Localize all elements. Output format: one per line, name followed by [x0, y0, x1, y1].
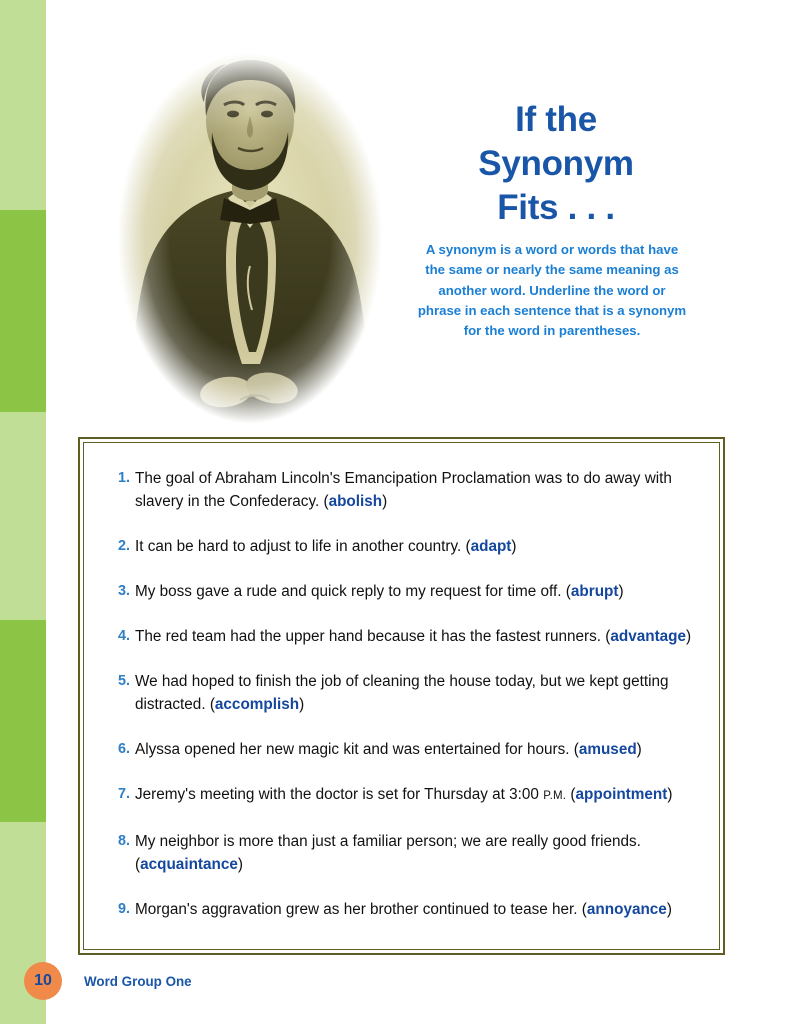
target-word: adapt — [471, 538, 512, 555]
item-number: 8. — [108, 830, 135, 853]
page-title: If the Synonym Fits . . . — [416, 98, 696, 230]
exercise-item-list: 1.The goal of Abraham Lincoln's Emancipa… — [84, 443, 719, 949]
exercise-item: 5.We had hoped to finish the job of clea… — [108, 670, 697, 716]
exercise-item: 6.Alyssa opened her new magic kit and wa… — [108, 738, 697, 761]
item-sentence: Alyssa opened her new magic kit and was … — [135, 738, 697, 761]
item-number: 6. — [108, 738, 135, 761]
title-line-3: Fits . . . — [416, 186, 696, 230]
exercise-box: 1.The goal of Abraham Lincoln's Emancipa… — [78, 437, 725, 955]
page-footer: 10 Word Group One — [24, 962, 192, 1000]
exercise-item: 3.My boss gave a rude and quick reply to… — [108, 580, 697, 603]
target-word: abolish — [329, 493, 383, 510]
decorative-sidebar — [0, 0, 46, 1024]
item-number: 7. — [108, 783, 135, 806]
target-word: annoyance — [587, 901, 667, 918]
target-word: accomplish — [215, 696, 299, 713]
exercise-item: 7.Jeremy's meeting with the doctor is se… — [108, 783, 697, 808]
exercise-item: 4.The red team had the upper hand becaus… — [108, 625, 697, 648]
target-word: amused — [579, 741, 637, 758]
exercise-item: 9.Morgan's aggravation grew as her broth… — [108, 898, 697, 921]
band-4-dark — [0, 620, 46, 822]
exercise-inner-border: 1.The goal of Abraham Lincoln's Emancipa… — [83, 442, 720, 950]
item-number: 1. — [108, 467, 135, 490]
target-word: advantage — [610, 628, 686, 645]
time-meridiem: P.M. — [543, 790, 566, 802]
exercise-item: 8.My neighbor is more than just a famili… — [108, 830, 697, 876]
title-line-2: Synonym — [416, 142, 696, 186]
item-sentence: The goal of Abraham Lincoln's Emancipati… — [135, 467, 697, 513]
target-word: appointment — [576, 786, 668, 803]
item-number: 2. — [108, 535, 135, 558]
portrait-illustration — [100, 28, 400, 448]
item-number: 9. — [108, 898, 135, 921]
item-number: 4. — [108, 625, 135, 648]
exercise-item: 1.The goal of Abraham Lincoln's Emancipa… — [108, 467, 697, 513]
band-1-light — [0, 0, 46, 210]
page-number-badge: 10 — [24, 962, 62, 1000]
target-word: acquaintance — [140, 856, 238, 873]
target-word: abrupt — [571, 583, 619, 600]
exercise-item: 2.It can be hard to adjust to life in an… — [108, 535, 697, 558]
footer-section-label: Word Group One — [84, 974, 192, 989]
band-3-light — [0, 412, 46, 620]
item-sentence: My boss gave a rude and quick reply to m… — [135, 580, 697, 603]
instructions-keyword: synonym — [439, 242, 497, 257]
item-sentence: My neighbor is more than just a familiar… — [135, 830, 697, 876]
instructions-text: A synonym is a word or words that have t… — [416, 240, 688, 341]
item-number: 5. — [108, 670, 135, 693]
title-line-1: If the — [416, 98, 696, 142]
band-2-dark — [0, 210, 46, 412]
item-sentence: Morgan's aggravation grew as her brother… — [135, 898, 697, 921]
lincoln-portrait — [100, 28, 400, 448]
item-sentence: The red team had the upper hand because … — [135, 625, 697, 648]
item-sentence: It can be hard to adjust to life in anot… — [135, 535, 697, 558]
portrait-oval-vignette — [100, 28, 400, 448]
item-sentence: Jeremy's meeting with the doctor is set … — [135, 783, 697, 808]
instructions-pre: A — [426, 242, 439, 257]
item-number: 3. — [108, 580, 135, 603]
item-sentence: We had hoped to finish the job of cleani… — [135, 670, 697, 716]
